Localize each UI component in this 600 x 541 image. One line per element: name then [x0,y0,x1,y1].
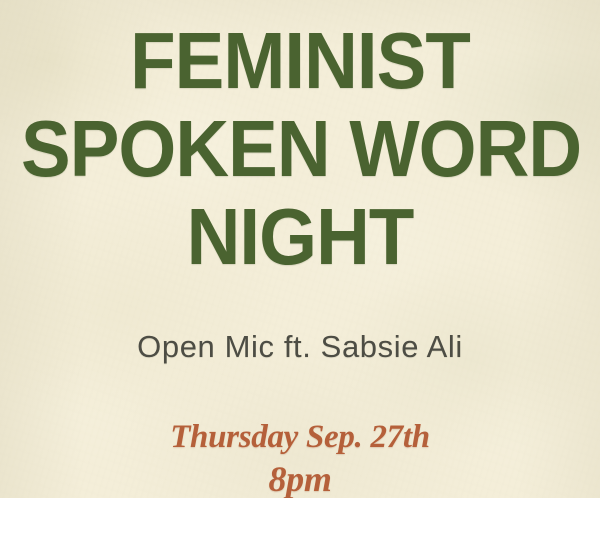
event-time: 8pm [0,458,600,498]
headline-line-3: NIGHT [21,193,579,281]
headline-line-1: FEMINIST [21,17,579,105]
poster-date-time: Thursday Sep. 27th 8pm [0,416,600,498]
event-date: Thursday Sep. 27th [0,416,600,458]
poster-subtitle: Open Mic ft. Sabsie Ali [0,327,600,367]
headline-line-2: SPOKEN WORD [21,105,579,193]
poster-paper-surface: FEMINIST SPOKEN WORD NIGHT Open Mic ft. … [0,0,600,498]
bottom-white-strip [0,498,600,541]
poster-headline: FEMINIST SPOKEN WORD NIGHT [0,17,600,281]
poster-content: FEMINIST SPOKEN WORD NIGHT Open Mic ft. … [0,0,600,498]
event-poster: FEMINIST SPOKEN WORD NIGHT Open Mic ft. … [0,0,600,541]
